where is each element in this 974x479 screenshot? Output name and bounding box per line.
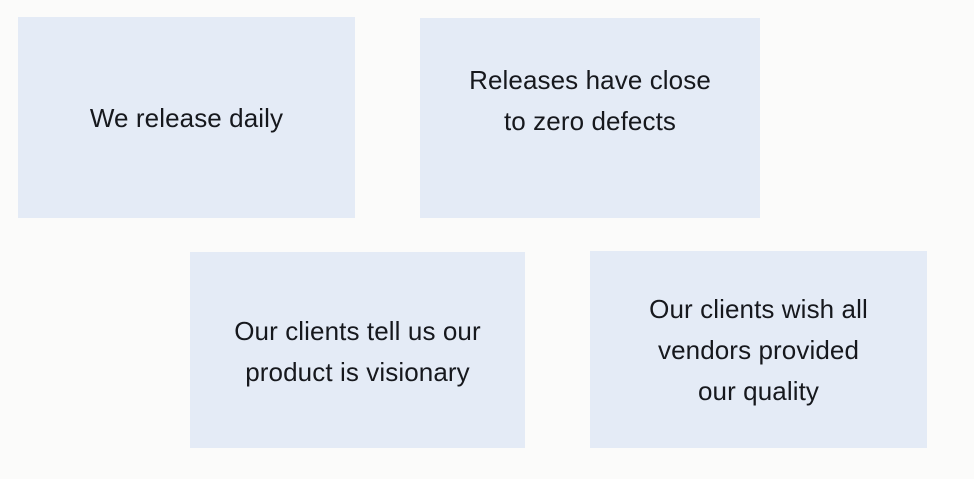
sticky-note-text: We release daily [32, 98, 341, 139]
note-board: We release daily Releases have close to … [0, 0, 974, 479]
sticky-note-our-clients-wish-all-vendors-provided-our-quality[interactable]: Our clients wish all vendors provided ou… [590, 251, 927, 448]
sticky-note-we-release-daily[interactable]: We release daily [18, 17, 355, 218]
sticky-note-text: Our clients tell us our product is visio… [204, 311, 511, 393]
sticky-note-text: Our clients wish all vendors provided ou… [604, 289, 913, 412]
sticky-note-text: Releases have close to zero defects [434, 60, 746, 142]
sticky-note-releases-have-close-to-zero-defects[interactable]: Releases have close to zero defects [420, 18, 760, 218]
sticky-note-our-clients-tell-us-our-product-is-visionary[interactable]: Our clients tell us our product is visio… [190, 252, 525, 448]
